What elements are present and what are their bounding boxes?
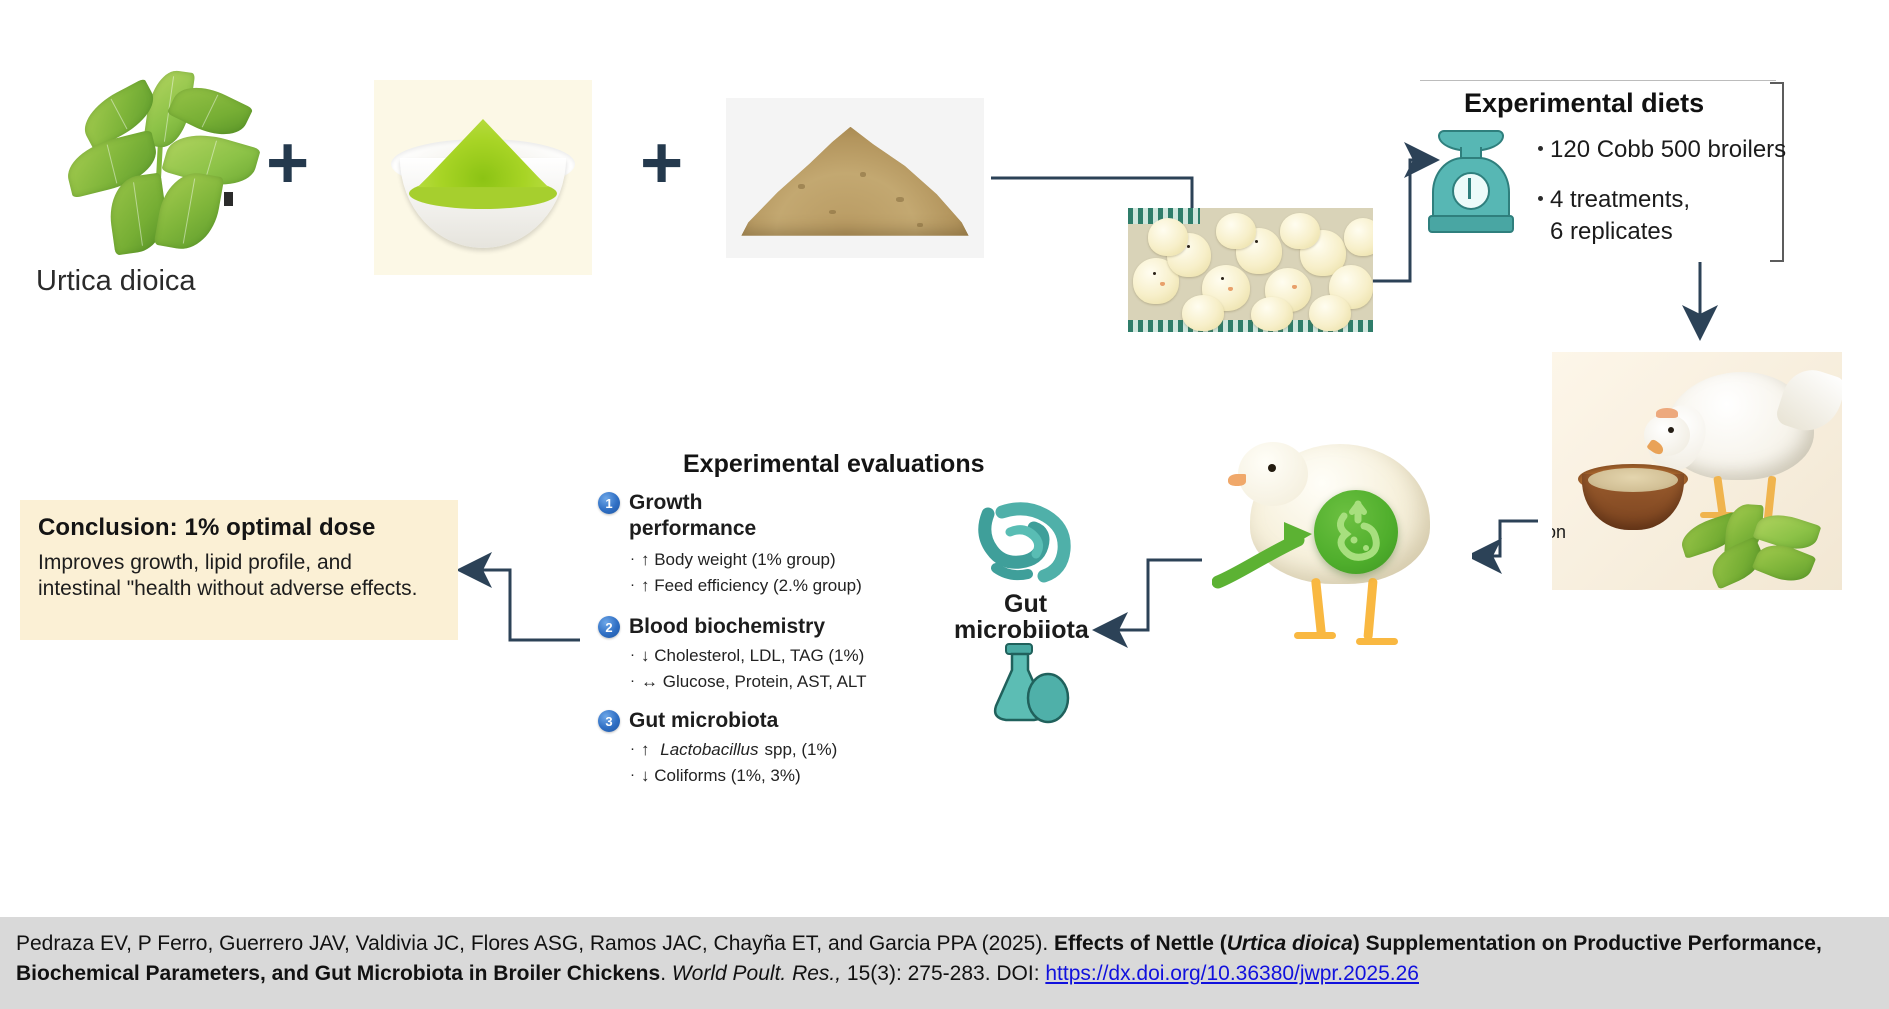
lactobacillus-italic: Lactobacillus [660, 740, 758, 760]
bullet-dot: · [630, 550, 635, 569]
doi-link[interactable]: https://dx.doi.org/10.36380/jwpr.2025.26 [1045, 962, 1419, 985]
diets-bullet-1: 120 Cobb 500 broilers [1538, 136, 1786, 164]
evaluation-item-1: 1 Growth performance · ↑ Body weight (1%… [598, 492, 928, 596]
hen-feeding-photo: ion [1552, 352, 1842, 590]
bullet-dot: · [630, 766, 635, 785]
evaluations-title: Experimental evaluations [683, 450, 985, 479]
bullet-dot: · [630, 672, 635, 691]
conclusion-body: Improves growth, lipid profile, and inte… [38, 550, 440, 602]
evaluation-badge-1: 1 [598, 492, 620, 514]
diets-bullet-1-text: 120 Cobb 500 broilers [1550, 136, 1786, 164]
evaluation-point-3-2: · ↓ Coliforms (1%, 3%) [630, 766, 938, 786]
citation-text: Pedraza EV, P Ferro, Guerrero JAV, Valdi… [16, 929, 1873, 989]
bullet-dot: · [630, 576, 635, 595]
citation-bar: Pedraza EV, P Ferro, Guerrero JAV, Valdi… [0, 917, 1889, 1009]
diets-bracket [1770, 82, 1784, 262]
diets-bullet-2-line1: 4 treatments, [1550, 186, 1690, 214]
nettle-dot [224, 192, 233, 206]
plus-sign-2: + [640, 126, 683, 200]
broiler-chicks-photo [1128, 208, 1373, 332]
bullet-dot: · [630, 646, 635, 665]
citation-journal: World Poult. Res., [672, 962, 841, 985]
kitchen-scale-icon [1424, 130, 1516, 236]
plus-sign-1: + [266, 126, 309, 200]
experimental-diets-card: Experimental diets 120 Cobb 500 broilers… [1404, 78, 1784, 266]
conclusion-box: Conclusion: 1% optimal dose Improves gro… [20, 500, 458, 640]
gut-label-line1: Gut [1004, 590, 1047, 619]
evaluation-item-2: 2 Blood biochemistry · ↓ Cholesterol, LD… [598, 616, 938, 692]
evaluation-badge-2: 2 [598, 616, 620, 638]
green-uptake-arrow-icon [1212, 510, 1322, 590]
evaluation-badge-3: 3 [598, 710, 620, 732]
poultry-feed-photo [726, 98, 984, 258]
gut-microbiota-badge-icon [1314, 490, 1398, 574]
evaluation-title-3: Gut microbiota [629, 710, 778, 732]
citation-authors: Pedraza EV, P Ferro, Guerrero JAV, Valdi… [16, 932, 1054, 955]
evaluation-point-2-2: · ↔ Glucose, Protein, AST, ALT [630, 672, 938, 692]
evaluation-point-1-2: · ↑ Feed efficiency (2.% group) [630, 576, 928, 596]
evaluation-point-1-1: · ↑ Body weight (1% group) [630, 550, 928, 570]
evaluation-point-2-1: · ↓ Cholesterol, LDL, TAG (1%) [630, 646, 938, 666]
nettle-sprig-icon [1680, 502, 1830, 588]
evaluation-title-2: Blood biochemistry [629, 616, 825, 638]
feeding-caption-fragment: ion [1552, 522, 1566, 543]
plant-label: Urtica dioica [36, 265, 196, 298]
evaluation-point-3-1: · ↑ Lactobacillus spp, (1%) [630, 740, 938, 760]
graphical-abstract: Urtica dioica + + [0, 0, 1889, 1009]
citation-title-species: Urtica dioica [1227, 932, 1353, 955]
conclusion-title: Conclusion: 1% optimal dose [38, 514, 440, 542]
evaluation-title-1a: Growth [629, 492, 756, 514]
citation-title-start: Effects of Nettle ( [1054, 932, 1227, 955]
evaluation-item-3: 3 Gut microbiota · ↑ Lactobacillus spp, … [598, 710, 938, 786]
diets-bullet-2-line2: 6 replicates [1550, 218, 1690, 246]
flask-icon [982, 640, 1074, 726]
nettle-powder-photo [374, 80, 592, 275]
diets-title: Experimental diets [1464, 88, 1704, 119]
citation-volume: 15(3): 275-283. DOI: [841, 962, 1045, 985]
evaluation-title-1b: performance [629, 518, 756, 540]
diets-bullet-2: 4 treatments, 6 replicates [1538, 186, 1690, 246]
nettle-plant-illustration [60, 68, 260, 258]
arrow-up-glyph: ↑ [641, 740, 654, 760]
citation-title-end: . [660, 962, 672, 985]
bullet-dot: · [630, 740, 635, 759]
chicken-gut-illustration [1210, 418, 1472, 696]
intestine-icon [972, 496, 1088, 592]
